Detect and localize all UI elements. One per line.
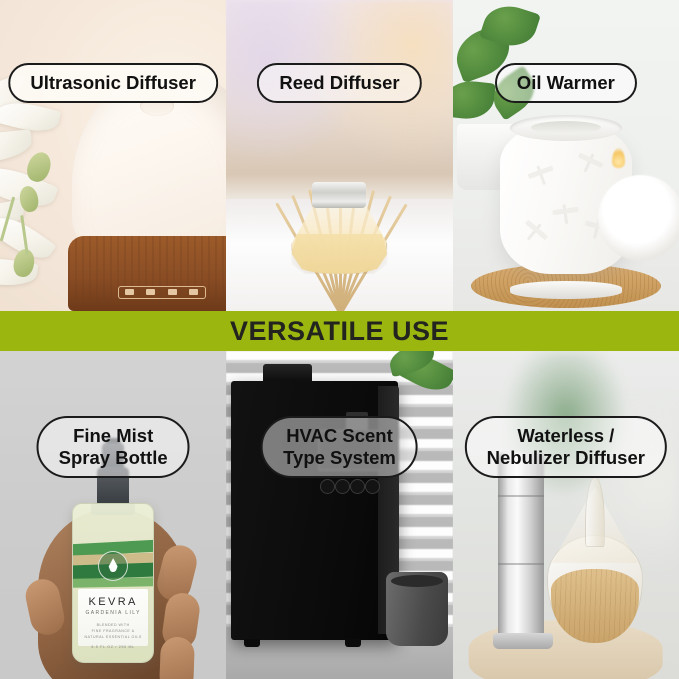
silver-nebulizer-base: [493, 633, 553, 649]
label-text-line-2: Type System: [283, 447, 396, 469]
oil-warmer-photo: [453, 0, 679, 311]
bottle-label: KEVRA GARDENIA LILY BLENDED WITH FINE FR…: [78, 589, 148, 646]
dragonfly-motif: [516, 214, 553, 251]
label-waterless-nebulizer-diffuser[interactable]: Waterless / Nebulizer Diffuser: [465, 416, 667, 478]
lily-flowers: [0, 75, 104, 311]
dragonfly-motif: [572, 146, 607, 181]
label-text-line-2: Nebulizer Diffuser: [487, 447, 645, 469]
banner-title: VERSATILE USE: [230, 316, 449, 347]
panel-hvac-scent-system: HVAC Scent Type System: [226, 351, 452, 679]
label-hvac-scent-system[interactable]: HVAC Scent Type System: [261, 416, 418, 478]
hvac-foot: [244, 639, 260, 647]
spray-bottle-photo: KEVRA GARDENIA LILY BLENDED WITH FINE FR…: [0, 351, 226, 679]
lit-candle: [598, 175, 679, 261]
candle-flame: [612, 148, 625, 168]
label-text-line-1: Fine Mist: [59, 425, 168, 447]
hvac-system-photo: [226, 351, 452, 679]
bottle-volume: 8.5 FL OZ / 250 ML: [78, 645, 148, 649]
spray-bottle: KEVRA GARDENIA LILY BLENDED WITH FINE FR…: [72, 503, 154, 663]
bottle-brand-name: KEVRA: [78, 596, 148, 608]
panel-fine-mist-spray-bottle: KEVRA GARDENIA LILY BLENDED WITH FINE FR…: [0, 351, 226, 679]
hvac-top-cap: [263, 364, 313, 380]
nebulizer-diffuser-photo: [453, 351, 679, 679]
panel-ultrasonic-diffuser: Ultrasonic Diffuser: [0, 0, 226, 311]
warmer-oil-dish: [510, 115, 622, 141]
hvac-button[interactable]: [365, 479, 380, 494]
dragonfly-motif: [525, 159, 558, 192]
diffuser-oil-liquid: [291, 234, 387, 274]
diffuser-silver-collar: [312, 182, 366, 208]
infographic-board: Ultrasonic Diffuser: [0, 0, 679, 679]
label-oil-warmer[interactable]: Oil Warmer: [495, 63, 637, 103]
label-text: Ultrasonic Diffuser: [30, 72, 196, 94]
decorative-vase: [386, 572, 448, 646]
panel-reed-diffuser: Reed Diffuser: [226, 0, 452, 311]
bottle-variant-name: GARDENIA LILY: [78, 610, 148, 616]
label-text-line-2: Spray Bottle: [59, 447, 168, 469]
hvac-button-row[interactable]: [320, 479, 380, 495]
nebulizer-wood-base: [551, 569, 639, 643]
diffuser-control-panel: [118, 286, 206, 299]
glass-wood-nebulizer: [547, 463, 643, 643]
label-ultrasonic-diffuser[interactable]: Ultrasonic Diffuser: [8, 63, 218, 103]
hvac-foot: [345, 639, 361, 647]
dragonfly-motif: [551, 200, 580, 229]
label-text-line-1: Waterless /: [487, 425, 645, 447]
bottle-blurb-line-3: NATURAL ESSENTIAL OILS: [78, 634, 148, 640]
hvac-button[interactable]: [350, 479, 365, 494]
warmer-base: [510, 281, 622, 299]
label-text: Oil Warmer: [517, 72, 615, 94]
label-reed-diffuser[interactable]: Reed Diffuser: [257, 63, 421, 103]
brand-seal-icon: [98, 551, 128, 581]
label-fine-mist-spray-bottle[interactable]: Fine Mist Spray Bottle: [37, 416, 190, 478]
ultrasonic-diffuser-photo: [0, 0, 226, 311]
bottom-panel-row: KEVRA GARDENIA LILY BLENDED WITH FINE FR…: [0, 351, 679, 679]
panel-waterless-nebulizer-diffuser: Waterless / Nebulizer Diffuser: [453, 351, 679, 679]
top-panel-row: Ultrasonic Diffuser: [0, 0, 679, 311]
label-text-line-1: HVAC Scent: [283, 425, 396, 447]
reed-diffuser-photo: [226, 0, 452, 311]
label-text: Reed Diffuser: [279, 72, 399, 94]
versatile-use-banner: VERSATILE USE: [0, 311, 679, 351]
hvac-button[interactable]: [335, 479, 350, 494]
nebulizer-glass-neck: [585, 477, 605, 547]
silver-cylinder-nebulizer: [498, 453, 544, 643]
panel-oil-warmer: Oil Warmer: [453, 0, 679, 311]
hvac-button[interactable]: [320, 479, 335, 494]
